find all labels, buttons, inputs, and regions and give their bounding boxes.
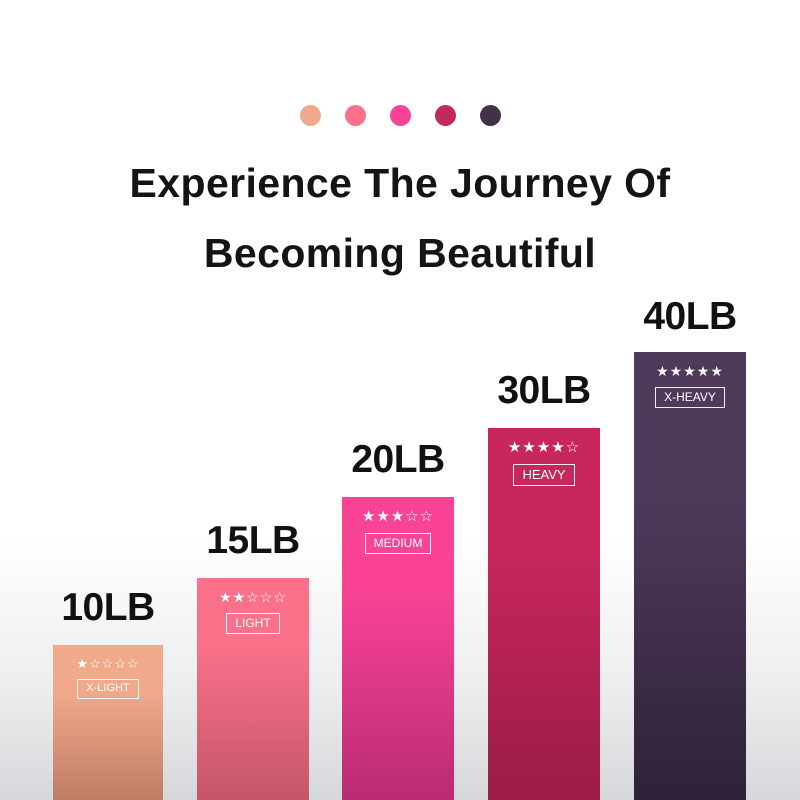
star-rating-icon: ★★☆☆☆ <box>197 590 309 604</box>
star-rating-icon: ★☆☆☆☆ <box>53 657 163 670</box>
bar-value-label: 10LB <box>61 588 154 627</box>
bar-badge: ★★★☆☆MEDIUM <box>342 509 454 554</box>
level-label: LIGHT <box>226 613 279 634</box>
bar-group-heavy[interactable]: 30LB★★★★☆HEAVY <box>488 371 600 800</box>
star-rating-icon: ★★★★☆ <box>488 440 600 455</box>
star-rating-icon: ★★★☆☆ <box>342 509 454 524</box>
bar-value-label: 15LB <box>206 521 299 560</box>
bar-rect[interactable]: ★★★★★X-HEAVY <box>634 352 746 800</box>
poster-content: Experience The Journey Of Becoming Beaut… <box>0 0 800 800</box>
resistance-band-bar-chart: 10LB★☆☆☆☆X-LIGHT15LB★★☆☆☆LIGHT20LB★★★☆☆M… <box>0 0 800 800</box>
bar-value-label: 30LB <box>497 371 590 410</box>
bar-group-light[interactable]: 15LB★★☆☆☆LIGHT <box>197 521 309 800</box>
bar-badge: ★★☆☆☆LIGHT <box>197 590 309 634</box>
bar-rect[interactable]: ★★☆☆☆LIGHT <box>197 578 309 800</box>
star-rating-icon: ★★★★★ <box>634 364 746 378</box>
bar-value-label: 40LB <box>643 297 736 336</box>
bar-rect[interactable]: ★☆☆☆☆X-LIGHT <box>53 645 163 800</box>
bar-rect[interactable]: ★★★★☆HEAVY <box>488 428 600 800</box>
level-label: X-HEAVY <box>655 387 725 408</box>
level-label: HEAVY <box>513 464 574 486</box>
bar-badge: ★★★★★X-HEAVY <box>634 364 746 408</box>
bar-rect[interactable]: ★★★☆☆MEDIUM <box>342 497 454 800</box>
bar-group-x-heavy[interactable]: 40LB★★★★★X-HEAVY <box>634 297 746 800</box>
bar-value-label: 20LB <box>351 440 444 479</box>
bar-badge: ★☆☆☆☆X-LIGHT <box>53 657 163 699</box>
bar-badge: ★★★★☆HEAVY <box>488 440 600 486</box>
level-label: X-LIGHT <box>77 679 138 699</box>
bar-group-medium[interactable]: 20LB★★★☆☆MEDIUM <box>342 440 454 800</box>
level-label: MEDIUM <box>365 533 432 554</box>
bar-group-x-light[interactable]: 10LB★☆☆☆☆X-LIGHT <box>53 588 163 800</box>
